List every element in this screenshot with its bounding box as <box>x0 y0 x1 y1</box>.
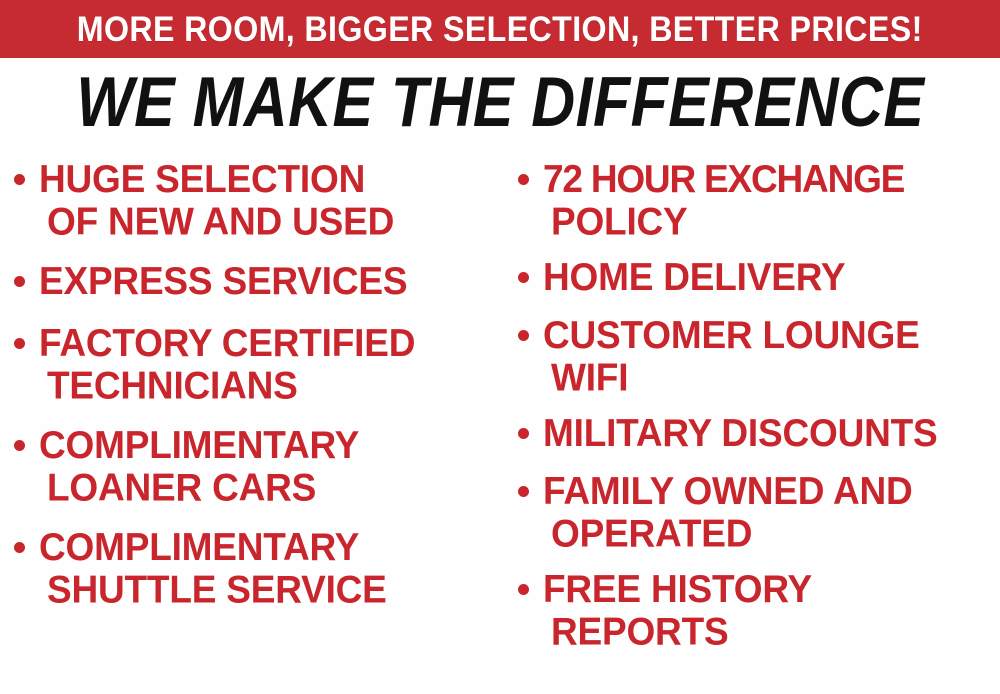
bullet-dot-icon <box>518 428 529 439</box>
benefit-text-line: FREE HISTORY <box>543 568 812 610</box>
benefit-list-item: FACTORY CERTIFIEDTECHNICIANS <box>14 322 504 402</box>
benefit-list-item-label: HUGE SELECTIONOF NEW AND USED <box>39 158 394 243</box>
advertisement-banner: MORE ROOM, BIGGER SELECTION, BETTER PRIC… <box>0 0 1000 694</box>
bullet-dot-icon <box>518 486 529 497</box>
benefit-text-line: FAMILY OWNED AND <box>543 470 913 512</box>
benefit-list-item-label: 72 HOUR EXCHANGEPOLICY <box>543 158 904 243</box>
benefit-list-item: CUSTOMER LOUNGEWIFI <box>518 314 1000 394</box>
benefit-text-line: WIFI <box>543 356 920 398</box>
benefit-text-line: OF NEW AND USED <box>39 200 394 242</box>
bullet-dot-icon <box>518 272 529 283</box>
bullet-dot-icon <box>14 338 25 349</box>
benefit-text-line: SHUTTLE SERVICE <box>39 568 387 610</box>
benefits-columns: HUGE SELECTIONOF NEW AND USEDEXPRESS SER… <box>0 158 1000 694</box>
benefits-column-left: HUGE SELECTIONOF NEW AND USEDEXPRESS SER… <box>14 158 504 694</box>
benefit-list-item: MILITARY DISCOUNTS <box>518 412 1000 452</box>
benefit-text-line: COMPLIMENTARY <box>39 424 359 466</box>
benefit-list-item-label: EXPRESS SERVICES <box>39 260 407 302</box>
top-promo-banner-text: MORE ROOM, BIGGER SELECTION, BETTER PRIC… <box>77 12 923 47</box>
bullet-dot-icon <box>518 174 529 185</box>
bullet-dot-icon <box>518 584 529 595</box>
benefit-list-item: 72 HOUR EXCHANGEPOLICY <box>518 158 1000 238</box>
benefit-list-item-label: FAMILY OWNED ANDOPERATED <box>543 470 913 555</box>
benefit-text-line: CUSTOMER LOUNGE <box>543 314 920 356</box>
benefit-text-line: COMPLIMENTARY <box>39 526 387 568</box>
benefit-text-line: POLICY <box>543 200 904 242</box>
benefit-list-item-label: CUSTOMER LOUNGEWIFI <box>543 314 920 399</box>
benefits-column-right: 72 HOUR EXCHANGEPOLICYHOME DELIVERYCUSTO… <box>518 158 1000 694</box>
benefit-text-line: HUGE SELECTION <box>39 158 394 200</box>
top-promo-banner: MORE ROOM, BIGGER SELECTION, BETTER PRIC… <box>0 0 1000 58</box>
benefit-list-item: HUGE SELECTIONOF NEW AND USED <box>14 158 504 238</box>
benefit-text-line: FACTORY CERTIFIED <box>39 322 415 364</box>
bullet-dot-icon <box>14 440 25 451</box>
benefit-list-item-label: HOME DELIVERY <box>543 256 845 298</box>
benefit-text-line: MILITARY DISCOUNTS <box>543 412 938 454</box>
benefit-text-line: REPORTS <box>543 610 812 652</box>
benefit-text-line: OPERATED <box>543 512 913 554</box>
benefit-text-line: TECHNICIANS <box>39 364 415 406</box>
headline-container: WE MAKE THE DIFFERENCE <box>0 66 1000 138</box>
bullet-dot-icon <box>518 330 529 341</box>
benefit-list-item: HOME DELIVERY <box>518 256 1000 296</box>
benefit-list-item: COMPLIMENTARYSHUTTLE SERVICE <box>14 526 504 606</box>
benefit-list-item: EXPRESS SERVICES <box>14 260 504 300</box>
benefit-list-item-label: FACTORY CERTIFIEDTECHNICIANS <box>39 322 415 407</box>
benefit-list-item: FAMILY OWNED ANDOPERATED <box>518 470 1000 550</box>
benefit-text-line: 72 HOUR EXCHANGE <box>543 158 904 200</box>
bullet-dot-icon <box>14 542 25 553</box>
benefit-list-item-label: COMPLIMENTARYSHUTTLE SERVICE <box>39 526 387 611</box>
benefit-list-item-label: COMPLIMENTARYLOANER CARS <box>39 424 359 509</box>
bullet-dot-icon <box>14 174 25 185</box>
benefit-list-item-label: MILITARY DISCOUNTS <box>543 412 938 454</box>
benefit-text-line: LOANER CARS <box>39 466 359 508</box>
benefit-list-item: FREE HISTORYREPORTS <box>518 568 1000 648</box>
benefit-text-line: EXPRESS SERVICES <box>39 260 407 302</box>
bullet-dot-icon <box>14 276 25 287</box>
benefit-text-line: HOME DELIVERY <box>543 256 845 298</box>
benefit-list-item-label: FREE HISTORYREPORTS <box>543 568 812 653</box>
benefit-list-item: COMPLIMENTARYLOANER CARS <box>14 424 504 504</box>
page-title: WE MAKE THE DIFFERENCE <box>76 67 924 137</box>
